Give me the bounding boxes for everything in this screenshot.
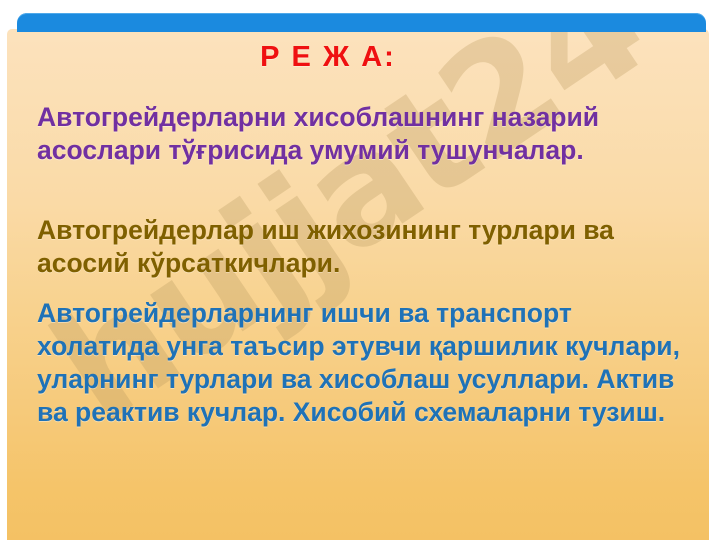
decorative-top-bar bbox=[17, 13, 706, 32]
slide-content-panel: hujjat24 Р Е Ж А: Автогрейдерларни хисоб… bbox=[7, 29, 709, 540]
presentation-slide: hujjat24 Р Е Ж А: Автогрейдерларни хисоб… bbox=[0, 0, 720, 540]
page-title: Р Е Ж А: bbox=[7, 41, 709, 74]
bullet-paragraph-1: Автогрейдерларни хисоблашнинг назарий ас… bbox=[37, 101, 697, 167]
slide-text-content: Р Е Ж А: Автогрейдерларни хисоблашнинг н… bbox=[7, 29, 709, 540]
bullet-paragraph-2: Автогрейдерлар иш жихозининг турлари ва … bbox=[37, 214, 697, 280]
bullet-paragraph-3: Автогрейдерларнинг ишчи ва транспорт хол… bbox=[37, 297, 697, 429]
